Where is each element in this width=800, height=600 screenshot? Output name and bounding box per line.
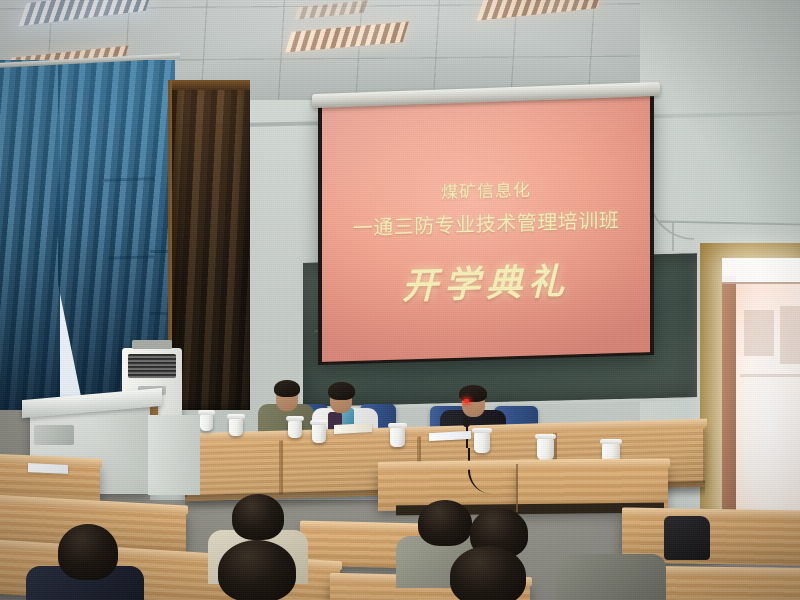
- audience-hair: [218, 540, 296, 600]
- door-transom-window: [722, 258, 800, 284]
- screen-border: 煤矿信息化 一通三防专业技术管理培训班 开学典礼: [318, 93, 654, 365]
- corridor-shape: [744, 310, 774, 356]
- microphone-indicator-led: [464, 399, 469, 403]
- lidded-teacup: [288, 420, 302, 438]
- panelist-hair: [328, 382, 355, 400]
- audience-member: [418, 500, 472, 546]
- air-conditioner-top: [132, 340, 172, 349]
- wall-cable: [648, 100, 694, 240]
- slide-title: 开学典礼: [402, 253, 570, 310]
- door-leaf[interactable]: [722, 276, 736, 540]
- microphone-head: [463, 418, 470, 427]
- lidded-teacup: [390, 427, 405, 447]
- backpack: [664, 516, 710, 560]
- blackout-curtain: [172, 80, 250, 410]
- audience-hair: [450, 546, 526, 600]
- document-on-desk: [28, 463, 68, 474]
- corridor-shape: [740, 374, 800, 377]
- slide-line-2: 一通三防专业技术管理培训班: [353, 204, 620, 241]
- lidded-teacup: [537, 438, 554, 460]
- audience-hair: [232, 494, 284, 540]
- audience-member: [218, 540, 296, 600]
- lidded-teacup: [229, 418, 243, 436]
- lidded-teacup: [200, 414, 213, 431]
- corridor-shape: [780, 306, 800, 364]
- sheer-curtain-left: [0, 60, 60, 410]
- projection-screen: 煤矿信息化 一通三防专业技术管理培训班 开学典礼: [318, 93, 654, 365]
- audience-member: [450, 546, 526, 600]
- slide-line-1: 煤矿信息化: [441, 176, 531, 204]
- air-conditioner-grille: [128, 354, 176, 378]
- audience-hair: [58, 524, 118, 580]
- photo-scene: 煤矿信息化 一通三防专业技术管理培训班 开学典礼: [0, 0, 800, 600]
- lidded-teacup: [312, 424, 326, 443]
- student-desk-top: [518, 458, 670, 468]
- audience-member: [232, 494, 284, 540]
- console-equipment: [34, 425, 74, 445]
- panelist-hair: [274, 380, 300, 397]
- audience-torso: [556, 554, 666, 600]
- audience-member: [58, 524, 118, 580]
- control-console-side-panel: [148, 415, 200, 495]
- audience-hair: [418, 500, 472, 546]
- screen-surface: 煤矿信息化 一通三防专业技术管理培训班 开学典礼: [322, 96, 650, 362]
- desk-divider: [516, 464, 518, 512]
